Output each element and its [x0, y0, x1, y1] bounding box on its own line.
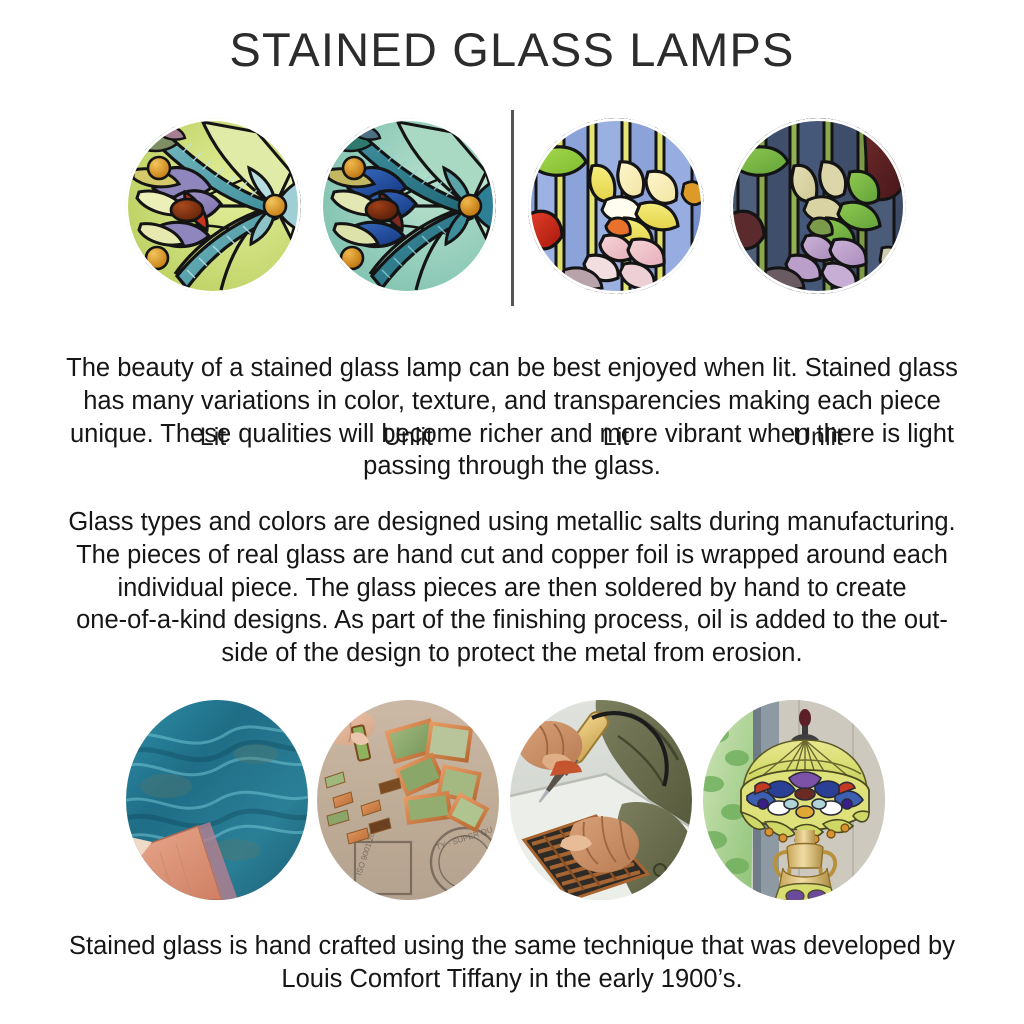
stained-glass-floral-unlit-icon	[730, 118, 906, 294]
stained-glass-fan-lit-icon	[125, 118, 301, 294]
paragraph-two-line: Glass types and colors are designed usin…	[34, 506, 990, 539]
hand-foiling-glass-pieces-icon: TY · SUPER QU ISO 9001:200	[317, 700, 499, 900]
paragraph-two: Glass types and colors are designed usin…	[34, 506, 990, 670]
vertical-divider	[511, 110, 514, 306]
paragraph-two-line: side of the design to protect the metal …	[34, 637, 990, 670]
paragraph-one-line: The beauty of a stained glass lamp can b…	[34, 352, 990, 385]
finished-tiffany-lamp-icon	[703, 700, 885, 900]
blue-marbled-glass-sheet-icon	[126, 700, 308, 900]
paragraph-one-line: passing through the glass.	[34, 450, 990, 483]
hand-soldering-iron-icon	[510, 700, 692, 900]
stained-glass-floral-lit-icon	[528, 118, 704, 294]
comparison-section: Lit Unlit Lit Unlit	[0, 118, 1024, 314]
stained-glass-fan-unlit-icon	[320, 118, 496, 294]
page-title: STAINED GLASS LAMPS	[0, 26, 1024, 73]
closing-line: Stained glass is hand crafted using the …	[34, 930, 990, 963]
paragraph-two-line: The pieces of real glass are hand cut an…	[34, 539, 990, 572]
paragraph-two-line: one-of-a-kind designs. As part of the fi…	[34, 604, 990, 637]
paragraph-one-line: unique. These qualities will become rich…	[34, 418, 990, 451]
paragraph-one: The beauty of a stained glass lamp can b…	[34, 352, 990, 483]
infographic-page: STAINED GLASS LAMPS	[0, 0, 1024, 1024]
process-section: TY · SUPER QU ISO 9001:200	[0, 700, 1024, 906]
paragraph-two-line: individual piece. The glass pieces are t…	[34, 572, 990, 605]
paragraph-one-line: has many variations in color, texture, a…	[34, 385, 990, 418]
closing-line: Louis Comfort Tiffany in the early 1900’…	[34, 963, 990, 996]
closing-caption: Stained glass is hand crafted using the …	[34, 930, 990, 996]
